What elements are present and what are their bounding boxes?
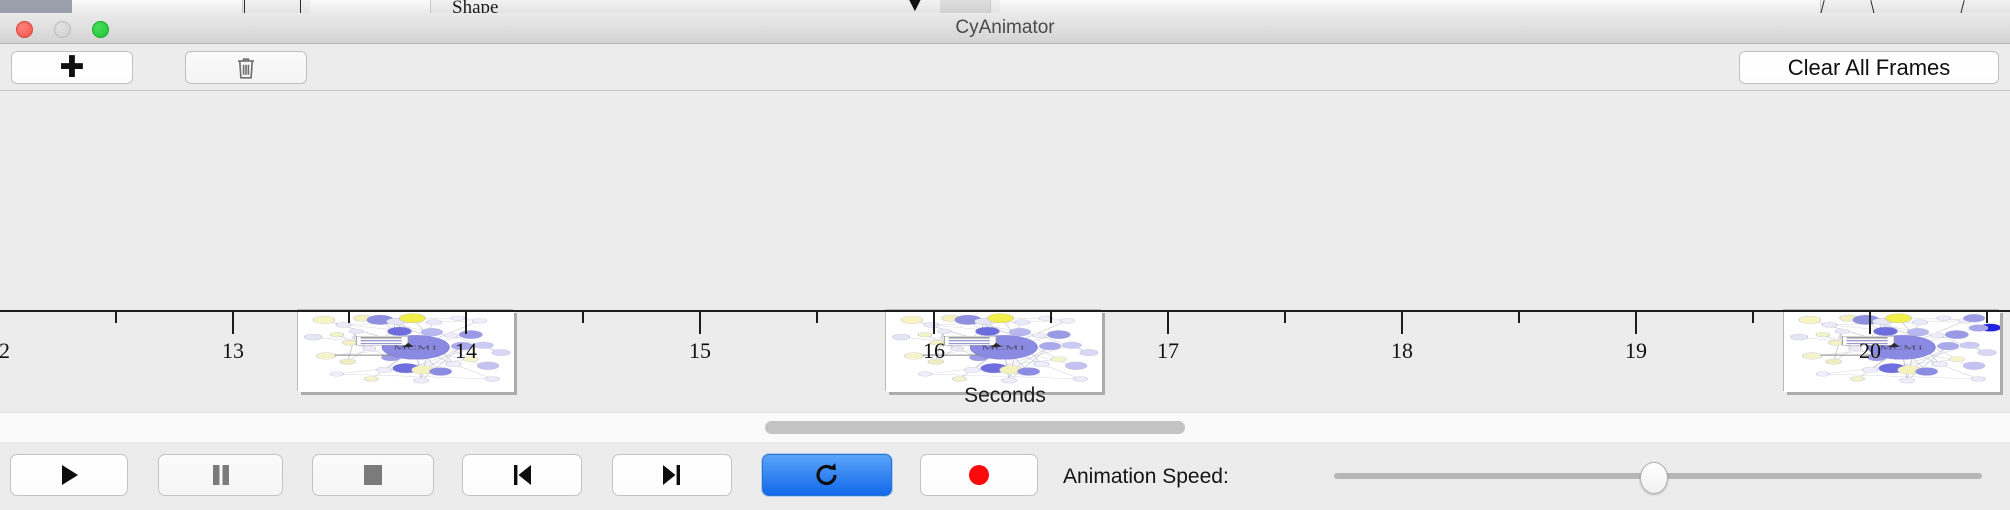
loop-button[interactable] [762,454,892,496]
timeline-minor-tick [582,312,584,323]
stop-icon [361,462,385,488]
background-tick [244,0,245,14]
timeline-tick-label: 12 [0,338,10,364]
timeline-tick-label: 17 [1157,338,1179,364]
svg-text:MCM1: MCM1 [393,345,438,351]
pause-button [158,454,283,496]
timeline-major-tick [1167,312,1169,334]
timeline-panel[interactable]: MCM1 MCM1 MCM1 121314151617181920 Second… [0,91,2010,412]
trash-icon [235,56,257,80]
timeline-tick-label: 18 [1391,338,1413,364]
timeline-major-tick [1869,312,1871,334]
play-button[interactable] [10,454,128,496]
background-tab [72,0,173,14]
background-tick [1870,0,1874,14]
delete-frame-button[interactable] [185,51,307,84]
clear-all-frames-button[interactable]: Clear All Frames [1739,51,1999,84]
stop-button [312,454,434,496]
timeline-minor-tick [816,312,818,323]
playback-control-bar: Animation Speed: [0,442,2010,510]
timeline-major-tick [1635,312,1637,334]
svg-text:MCM1: MCM1 [981,345,1026,351]
add-frame-button[interactable]: ✚ [11,51,133,84]
timeline-minor-tick [115,312,117,323]
timeline-minor-tick [1752,312,1754,323]
timeline-minor-tick [1050,312,1052,323]
timeline-tick-label: 16 [923,338,945,364]
background-tab [1000,0,1821,14]
timeline-tick-label: 19 [1625,338,1647,364]
timeline-minor-tick [1518,312,1520,323]
toolbar: ✚ Clear All Frames [0,44,2010,91]
axis-title: Seconds [0,384,2010,408]
background-tick [300,0,301,14]
title-bar[interactable]: CyAnimator [0,13,2010,44]
timeline-major-tick [699,312,701,334]
timeline-scrollbar[interactable] [0,412,2010,443]
skip-to-end-button[interactable] [612,454,732,496]
keyframe-thumbnail[interactable]: MCM1 [1783,309,1999,391]
timeline-major-tick [933,312,935,334]
loop-icon [813,461,841,489]
window-title: CyAnimator [0,13,2010,43]
animation-speed-label: Animation Speed: [1063,465,1229,489]
timeline-axis-line [0,310,2010,312]
timeline-major-tick [232,312,234,334]
background-tab [940,0,991,14]
cyanimator-window: Shape ▼ CyAnimator ✚ Clear All Frames [0,0,2010,510]
timeline-minor-tick [1986,312,1988,323]
background-tab [172,0,243,14]
record-button[interactable] [920,454,1038,496]
background-window-label: Shape [452,0,498,14]
timeline-major-tick [465,312,467,334]
play-icon [56,462,82,488]
pause-icon [210,462,232,488]
timeline-scrollbar-thumb[interactable] [765,421,1185,434]
timeline-tick-label: 20 [1859,338,1881,364]
animation-speed-slider-thumb[interactable] [1640,462,1668,494]
svg-text:MCM1: MCM1 [1879,345,1924,351]
background-window-sidebar [0,0,72,13]
background-tab [310,0,431,14]
background-tick [1960,0,1964,14]
background-window-strip: Shape ▼ [0,0,2010,14]
keyframe-thumbnail[interactable]: MCM1 [297,309,513,391]
keyframe-thumbnail[interactable]: MCM1 [885,309,1101,391]
timeline-minor-tick [348,312,350,323]
timeline-tick-label: 13 [222,338,244,364]
timeline-tick-label: 14 [455,338,477,364]
timeline-tick-label: 15 [689,338,711,364]
skip-forward-icon [660,462,684,488]
record-icon [966,462,992,488]
skip-back-icon [510,462,534,488]
timeline-minor-tick [1284,312,1286,323]
timeline-major-tick [1401,312,1403,334]
skip-to-start-button[interactable] [462,454,582,496]
